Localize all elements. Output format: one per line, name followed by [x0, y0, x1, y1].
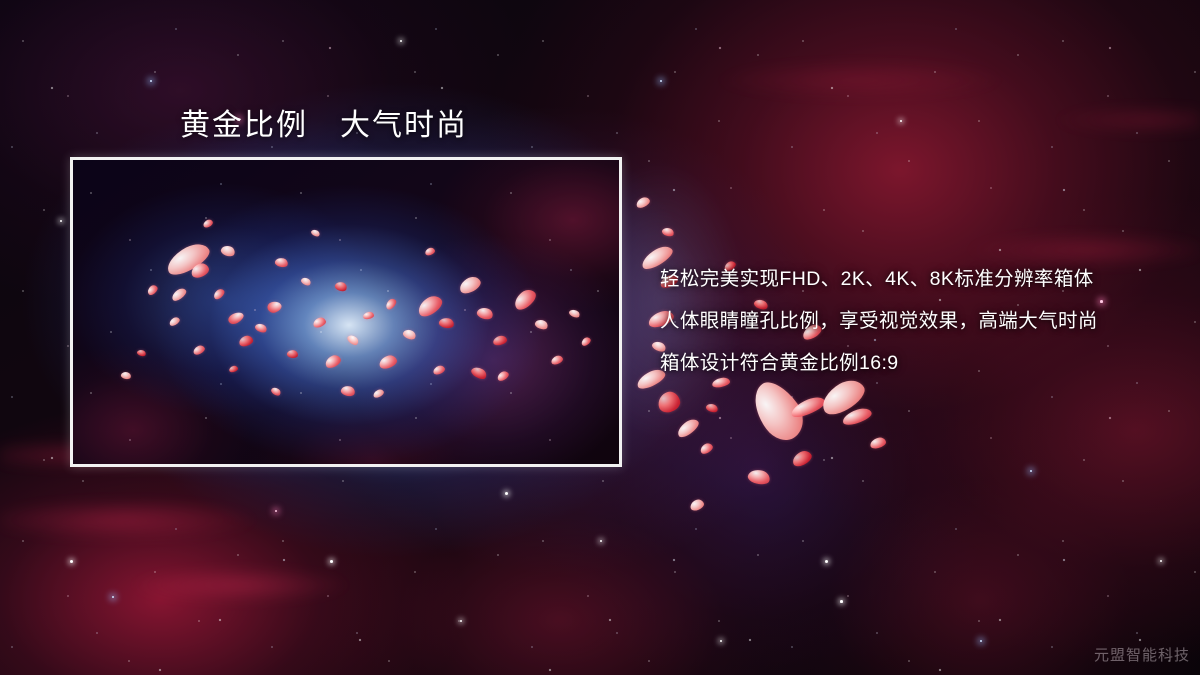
star [70, 560, 73, 563]
star [840, 600, 843, 603]
presentation-slide: 黄金比例 大气时尚 轻松完美实现FHD、2K、4K、8K标准分辨率箱体 人体眼睛… [0, 0, 1200, 675]
star [980, 640, 982, 642]
watermark-logo-text: 元盟智能科技 [1094, 644, 1190, 665]
star [460, 620, 462, 622]
body-line-3: 箱体设计符合黄金比例16:9 [660, 342, 1150, 384]
star [505, 492, 508, 495]
page-title: 黄金比例 大气时尚 [180, 100, 468, 144]
star [900, 120, 902, 122]
star [275, 510, 277, 512]
star [150, 80, 152, 82]
screen-starfield [73, 160, 619, 464]
star [330, 560, 333, 563]
star [400, 40, 402, 42]
star [1030, 470, 1032, 472]
star [60, 220, 62, 222]
body-line-1: 轻松完美实现FHD、2K、4K、8K标准分辨率箱体 [660, 258, 1150, 300]
body-line-2: 人体眼睛瞳孔比例，享受视觉效果，高端大气时尚 [660, 300, 1150, 342]
star [825, 560, 828, 563]
star [600, 540, 602, 542]
star [112, 596, 114, 598]
led-display-panel[interactable] [70, 157, 622, 467]
body-copy-block: 轻松完美实现FHD、2K、4K、8K标准分辨率箱体 人体眼睛瞳孔比例，享受视觉效… [660, 258, 1150, 384]
star [1160, 560, 1162, 562]
star [660, 80, 662, 82]
star [720, 640, 722, 642]
